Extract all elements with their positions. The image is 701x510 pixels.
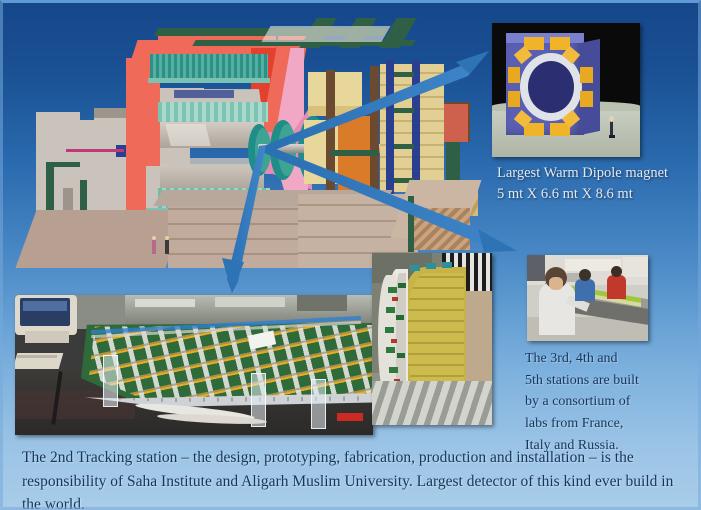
caption-dipole-magnet: Largest Warm Dipole magnet 5 mt X 6.6 mt… [497,163,697,204]
presentation-slide: Largest Warm Dipole magnet 5 mt X 6.6 mt… [0,0,701,510]
arrow-to-tracking-station [222,145,266,293]
arrow-to-lab-assembly [262,145,517,252]
arrow-to-dipole-magnet [266,51,489,151]
caption-stations: The 3rd, 4th and 5th stations are built … [525,348,700,456]
caption-tracking-station: The 2nd Tracking station – the design, p… [22,446,682,510]
